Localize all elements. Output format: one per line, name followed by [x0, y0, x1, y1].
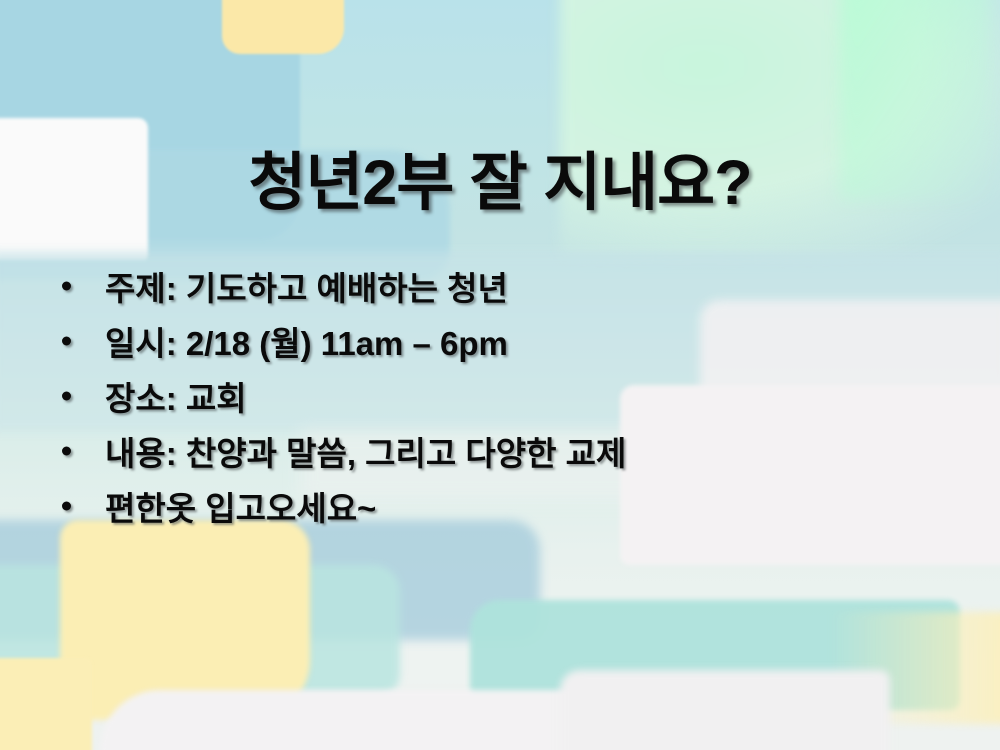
slide-content: 청년2부 잘 지내요? 주제: 기도하고 예배하는 청년 일시: 2/18 (월…: [0, 0, 1000, 750]
bullet-text: 장소: 교회: [105, 372, 247, 420]
bullet-text: 편한옷 입고오세요~: [105, 482, 376, 530]
list-item: 내용: 찬양과 말씀, 그리고 다양한 교제: [0, 423, 1000, 478]
presentation-slide: 청년2부 잘 지내요? 주제: 기도하고 예배하는 청년 일시: 2/18 (월…: [0, 0, 1000, 750]
bullet-list: 주제: 기도하고 예배하는 청년 일시: 2/18 (월) 11am – 6pm…: [0, 258, 1000, 533]
bullet-text: 내용: 찬양과 말씀, 그리고 다양한 교제: [105, 427, 626, 475]
list-item: 장소: 교회: [0, 368, 1000, 423]
slide-title: 청년2부 잘 지내요?: [0, 132, 1000, 223]
bullet-text: 일시: 2/18 (월) 11am – 6pm: [105, 317, 508, 365]
bullet-dot-icon: [62, 336, 71, 345]
bullet-dot-icon: [62, 501, 71, 510]
bullet-dot-icon: [62, 391, 71, 400]
bullet-dot-icon: [62, 446, 71, 455]
bullet-text: 주제: 기도하고 예배하는 청년: [105, 262, 508, 310]
list-item: 편한옷 입고오세요~: [0, 478, 1000, 533]
list-item: 주제: 기도하고 예배하는 청년: [0, 258, 1000, 313]
list-item: 일시: 2/18 (월) 11am – 6pm: [0, 313, 1000, 368]
bullet-dot-icon: [62, 281, 71, 290]
